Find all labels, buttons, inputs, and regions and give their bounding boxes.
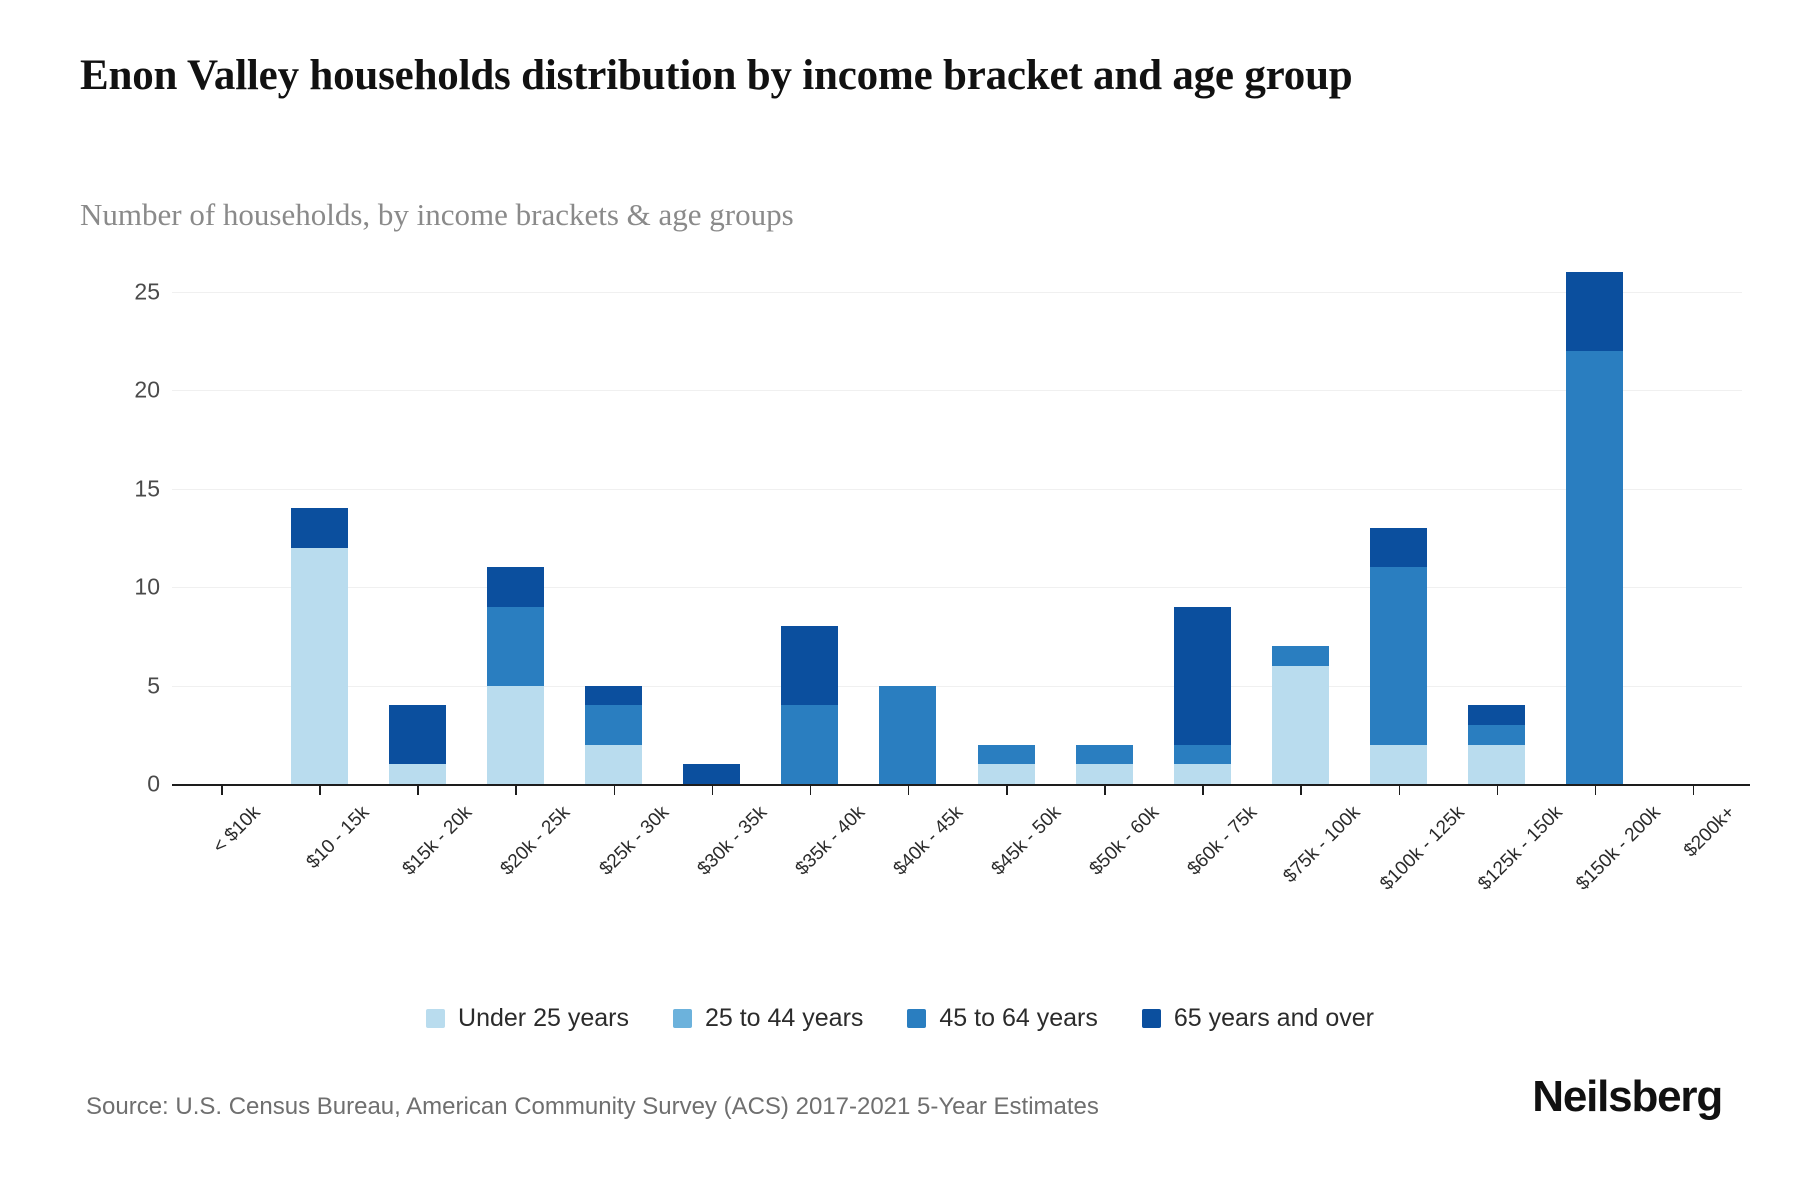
bar-segment[interactable]	[487, 567, 544, 606]
bar-segment[interactable]	[585, 705, 642, 744]
bar-segment[interactable]	[1076, 745, 1133, 765]
legend-item[interactable]: Under 25 years	[426, 1004, 629, 1033]
x-axis-label-slot: < $10k	[172, 796, 270, 916]
bar-slot[interactable]	[663, 262, 761, 784]
bar-segment[interactable]	[1076, 764, 1133, 784]
x-axis-label-slot: $30k - 35k	[663, 796, 761, 916]
bar-stack[interactable]	[781, 626, 838, 784]
bar-segment[interactable]	[1468, 725, 1525, 745]
bar-stack[interactable]	[1272, 646, 1329, 784]
tick-mark	[614, 786, 616, 795]
legend-swatch-icon	[426, 1009, 445, 1028]
bar-segment[interactable]	[1370, 745, 1427, 784]
bar-segment[interactable]	[487, 607, 544, 686]
bar-slot[interactable]	[270, 262, 368, 784]
bar-stack[interactable]	[683, 764, 740, 784]
y-axis-tick-label: 5	[80, 672, 160, 699]
x-axis-tick	[1251, 786, 1349, 795]
bar-segment[interactable]	[1370, 567, 1427, 744]
bar-segment[interactable]	[1272, 646, 1329, 666]
bar-segment[interactable]	[585, 686, 642, 706]
tick-mark	[1006, 786, 1008, 795]
x-axis-tick	[1546, 786, 1644, 795]
bar-slot[interactable]	[565, 262, 663, 784]
tick-mark	[515, 786, 517, 795]
tick-mark	[1399, 786, 1401, 795]
legend-item[interactable]: 25 to 44 years	[673, 1004, 863, 1033]
x-axis-tick-label: $10 - 15k	[303, 802, 375, 874]
x-axis-label-slot: $50k - 60k	[1055, 796, 1153, 916]
bar-segment[interactable]	[389, 764, 446, 784]
bar-slot[interactable]	[1350, 262, 1448, 784]
x-axis-tick	[466, 786, 564, 795]
tick-mark	[1104, 786, 1106, 795]
bar-segment[interactable]	[1174, 607, 1231, 745]
x-axis-tick	[761, 786, 859, 795]
bar-slot[interactable]	[172, 262, 270, 784]
x-axis-tick	[1153, 786, 1251, 795]
x-axis-label-slot: $75k - 100k	[1251, 796, 1349, 916]
tick-mark	[1202, 786, 1204, 795]
bar-stack[interactable]	[1370, 528, 1427, 784]
bar-segment[interactable]	[781, 705, 838, 784]
bar-segment[interactable]	[1468, 745, 1525, 784]
y-axis-tick-label: 20	[80, 377, 160, 404]
page-subtitle: Number of households, by income brackets…	[80, 196, 1480, 233]
x-axis-label-slot: $35k - 40k	[761, 796, 859, 916]
tick-mark	[712, 786, 714, 795]
x-axis-tick-label: $200k+	[1680, 802, 1740, 862]
tick-mark	[908, 786, 910, 795]
y-axis: 0510152025	[80, 262, 160, 784]
tick-mark	[1595, 786, 1597, 795]
bar-stack[interactable]	[585, 686, 642, 784]
legend-swatch-icon	[673, 1009, 692, 1028]
tick-mark	[1300, 786, 1302, 795]
x-axis-tick-label: < $10k	[209, 802, 265, 858]
x-axis-label-slot: $200k+	[1644, 796, 1742, 916]
tick-mark	[319, 786, 321, 795]
legend-label: 65 years and over	[1174, 1004, 1374, 1033]
brand-logo: Neilsberg	[1532, 1072, 1722, 1122]
x-axis-tick	[663, 786, 761, 795]
x-axis-label-slot: $60k - 75k	[1153, 796, 1251, 916]
bar-slot[interactable]	[1153, 262, 1251, 784]
x-axis-tick	[1644, 786, 1742, 795]
bar-segment[interactable]	[1566, 272, 1623, 351]
chart-page: Enon Valley households distribution by i…	[0, 0, 1800, 1200]
bar-segment[interactable]	[291, 548, 348, 784]
y-axis-tick-label: 15	[80, 475, 160, 502]
bar-slot[interactable]	[761, 262, 859, 784]
x-axis-labels: < $10k$10 - 15k$15k - 20k$20k - 25k$25k …	[172, 796, 1742, 916]
bar-stack[interactable]	[291, 508, 348, 784]
bar-segment[interactable]	[1468, 705, 1525, 725]
bar-segment[interactable]	[781, 626, 838, 705]
x-axis-tick	[565, 786, 663, 795]
bar-series-container	[172, 262, 1742, 784]
bar-segment[interactable]	[291, 508, 348, 547]
bar-slot[interactable]	[957, 262, 1055, 784]
legend-label: Under 25 years	[458, 1004, 629, 1033]
x-axis-label-slot: $100k - 125k	[1350, 796, 1448, 916]
x-axis-label-slot: $150k - 200k	[1546, 796, 1644, 916]
chart-legend: Under 25 years25 to 44 years45 to 64 yea…	[0, 1004, 1800, 1033]
x-axis-label-slot: $45k - 50k	[957, 796, 1055, 916]
bar-segment[interactable]	[487, 686, 544, 784]
bar-segment[interactable]	[1174, 764, 1231, 784]
bar-segment[interactable]	[1370, 528, 1427, 567]
bar-segment[interactable]	[978, 764, 1035, 784]
bar-slot[interactable]	[1448, 262, 1546, 784]
tick-mark	[221, 786, 223, 795]
bar-slot[interactable]	[466, 262, 564, 784]
legend-label: 25 to 44 years	[705, 1004, 863, 1033]
x-axis-tick	[172, 786, 270, 795]
x-axis-label-slot: $20k - 25k	[466, 796, 564, 916]
legend-swatch-icon	[907, 1009, 926, 1028]
bar-slot[interactable]	[1546, 262, 1644, 784]
bar-slot[interactable]	[1055, 262, 1153, 784]
x-axis-tick	[957, 786, 1055, 795]
bar-segment[interactable]	[585, 745, 642, 784]
bar-segment[interactable]	[978, 745, 1035, 765]
y-axis-tick-label: 25	[80, 278, 160, 305]
x-axis-label-slot: $40k - 45k	[859, 796, 957, 916]
legend-label: 45 to 64 years	[939, 1004, 1097, 1033]
bar-stack[interactable]	[1566, 272, 1623, 784]
x-axis-label-slot: $125k - 150k	[1448, 796, 1546, 916]
bar-segment[interactable]	[1272, 666, 1329, 784]
x-axis-tick	[1448, 786, 1546, 795]
y-axis-tick-label: 10	[80, 574, 160, 601]
legend-swatch-icon	[1142, 1009, 1161, 1028]
legend-item[interactable]: 65 years and over	[1142, 1004, 1374, 1033]
bar-segment[interactable]	[389, 705, 446, 764]
bar-stack[interactable]	[978, 745, 1035, 784]
bar-stack[interactable]	[879, 686, 936, 784]
bar-slot[interactable]	[859, 262, 957, 784]
bar-stack[interactable]	[1076, 745, 1133, 784]
bar-slot[interactable]	[1644, 262, 1742, 784]
x-axis-tick	[368, 786, 466, 795]
bar-stack[interactable]	[487, 567, 544, 784]
tick-mark	[1693, 786, 1695, 795]
bar-slot[interactable]	[368, 262, 466, 784]
x-axis-tick	[270, 786, 368, 795]
x-axis-tick	[859, 786, 957, 795]
bar-segment[interactable]	[879, 686, 936, 784]
x-axis-label-slot: $10 - 15k	[270, 796, 368, 916]
bar-stack[interactable]	[1174, 607, 1231, 784]
bar-segment[interactable]	[683, 764, 740, 784]
legend-item[interactable]: 45 to 64 years	[907, 1004, 1097, 1033]
page-title: Enon Valley households distribution by i…	[80, 48, 1600, 103]
x-axis-label-slot: $25k - 30k	[565, 796, 663, 916]
bar-stack[interactable]	[389, 705, 446, 784]
bar-segment[interactable]	[1566, 351, 1623, 784]
tick-mark	[810, 786, 812, 795]
x-axis-ticks	[172, 786, 1742, 795]
bar-slot[interactable]	[1251, 262, 1349, 784]
bar-stack[interactable]	[1468, 705, 1525, 784]
source-note: Source: U.S. Census Bureau, American Com…	[86, 1093, 1099, 1121]
y-axis-tick-label: 0	[80, 771, 160, 798]
x-axis-label-slot: $15k - 20k	[368, 796, 466, 916]
tick-mark	[1497, 786, 1499, 795]
tick-mark	[417, 786, 419, 795]
x-axis-tick	[1350, 786, 1448, 795]
bar-segment[interactable]	[1174, 745, 1231, 765]
x-axis-tick	[1055, 786, 1153, 795]
